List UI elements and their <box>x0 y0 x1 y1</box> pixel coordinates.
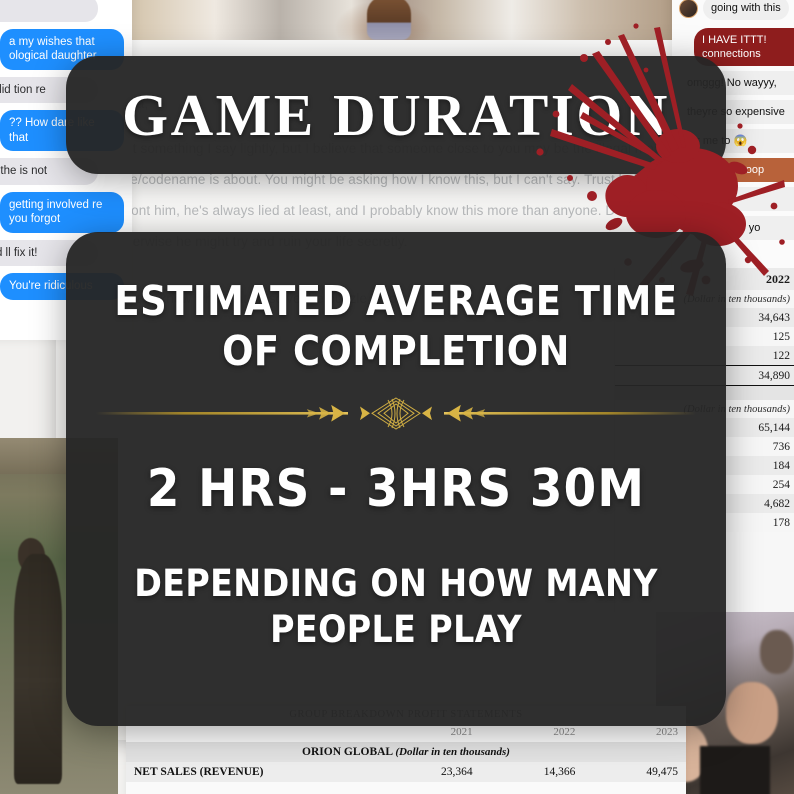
table-cell: 23,364 <box>378 762 481 782</box>
unit-note: (Dollar in ten thousands) <box>395 746 510 758</box>
photo-party-face-3 <box>760 630 794 674</box>
dm-header: going with this <box>672 0 794 23</box>
body-panel: ESTIMATED AVERAGE TIME OF COMPLETION <box>66 232 726 726</box>
table-row: NET SALES (REVENUE) 23,364 14,366 49,475 <box>126 762 686 782</box>
art-deco-divider-icon <box>96 397 696 431</box>
table-row-label: NET SALES (REVENUE) <box>126 762 378 782</box>
chat-bubble: getting involved re you forgot <box>0 192 124 233</box>
chat-bubble: an <box>0 0 98 22</box>
avatar-icon <box>679 0 698 18</box>
table-cell: 14,366 <box>481 762 584 782</box>
headline-line-2: OF COMPLETION <box>114 326 677 376</box>
chat-bubble: going with this <box>703 0 789 20</box>
company-name: ORION GLOBAL <box>302 746 392 758</box>
headline-block: ESTIMATED AVERAGE TIME OF COMPLETION <box>114 276 677 377</box>
subline-line-2: PEOPLE PLAY <box>134 607 658 653</box>
page-title: GAME DURATION <box>66 56 726 174</box>
financial-table-bottom: 2021 2022 2023 ORION GLOBAL (Dollar in t… <box>126 722 686 782</box>
subline-line-1: DEPENDING ON HOW MANY <box>134 561 658 607</box>
photo-corridor-woman <box>84 0 678 40</box>
photo-party-face-1 <box>726 682 778 744</box>
duration-value: 2 HRS - 3HRS 30M <box>147 459 645 519</box>
table-cell: 49,475 <box>583 762 686 782</box>
title-panel: GAME DURATION <box>66 56 726 174</box>
subline-block: DEPENDING ON HOW MANY PEOPLE PLAY <box>134 561 658 653</box>
photo-garden-silhouette <box>14 554 62 784</box>
screenshot-stage: Dear Olivia, This is not something I say… <box>0 0 794 794</box>
photo-party-suit <box>700 746 770 794</box>
headline-line-1: ESTIMATED AVERAGE TIME <box>114 276 677 326</box>
chat-bubble: if I said I' <box>679 187 794 211</box>
table-company-row: ORION GLOBAL (Dollar in ten thousands) <box>126 742 686 762</box>
table-company-cell: ORION GLOBAL (Dollar in ten thousands) <box>126 742 686 762</box>
